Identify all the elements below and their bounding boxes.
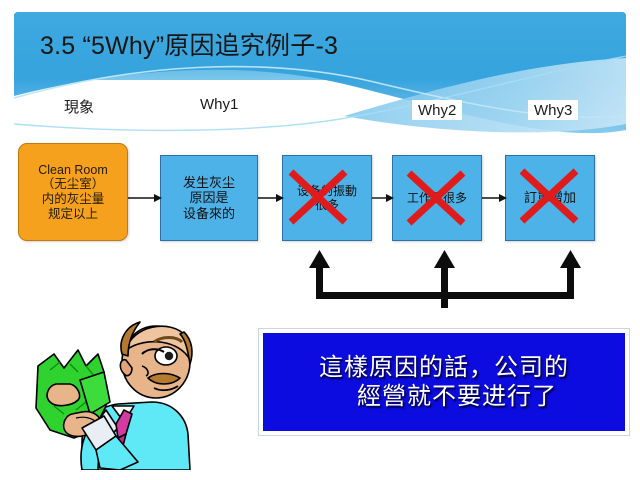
conclusion-callout-frame: 這樣原因的話，公司的 經營就不要进行了	[258, 328, 630, 436]
flow-box-line: Clean Room	[38, 163, 107, 178]
flow-box-line: 发生灰尘	[183, 175, 235, 190]
connector-arrow-4	[482, 192, 507, 204]
flow-box-line: 设备的振動	[297, 184, 357, 198]
flow-box-clean-room[interactable]: Clean Room （无尘室） 内的灰尘量 规定以上	[18, 143, 128, 241]
connector-arrow-2	[258, 192, 284, 204]
flow-box-line: 很多	[297, 198, 357, 212]
flow-box-workload-high[interactable]: 工作量很多	[392, 155, 482, 241]
flow-box-line: 设备來的	[183, 206, 235, 221]
callout-line-1: 這樣原因的話，公司的	[319, 353, 569, 382]
flow-box-equipment-vibration[interactable]: 设备的振動 很多	[282, 155, 372, 241]
connector-arrow-3	[372, 192, 394, 204]
slide-canvas: 3.5 “5Why”原因追究例子-3 現象 Why1 Why2 Why3 Cle…	[0, 0, 640, 480]
title-banner: 3.5 “5Why”原因追究例子-3	[14, 12, 626, 80]
column-label-why1: Why1	[200, 96, 238, 113]
column-label-why2: Why2	[412, 100, 462, 120]
businessman-holding-money-illustration	[20, 310, 200, 470]
flow-box-dust-cause[interactable]: 发生灰尘 原因是 设备來的	[160, 155, 258, 241]
column-label-phenomenon: 現象	[64, 96, 94, 117]
flow-box-line: 原因是	[183, 190, 235, 205]
column-label-why3: Why3	[528, 100, 578, 120]
conclusion-callout[interactable]: 這樣原因的話，公司的 經營就不要进行了	[263, 333, 625, 431]
callout-line-2: 經營就不要进行了	[357, 382, 557, 411]
flow-box-line: 规定以上	[38, 207, 107, 222]
flow-box-orders-increase[interactable]: 訂單增加	[505, 155, 595, 241]
flow-box-line: （无尘室）	[38, 177, 107, 192]
flow-box-line: 内的灰尘量	[38, 192, 107, 207]
page-title: 3.5 “5Why”原因追究例子-3	[40, 26, 338, 62]
flow-box-line: 訂單增加	[524, 190, 576, 205]
connector-arrow-1	[128, 192, 162, 204]
upward-bracket-arrows	[300, 250, 590, 322]
flow-box-line: 工作量很多	[407, 191, 467, 205]
